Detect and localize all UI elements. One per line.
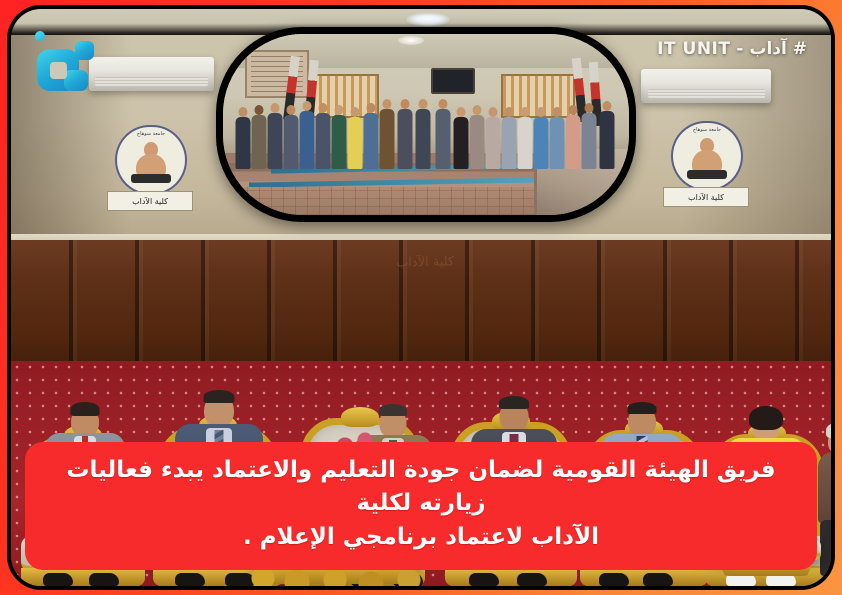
faculty-emblem-right: جامعة سوهاج كلية الآداب [663,121,747,207]
person-shoe [175,573,205,586]
person-legs [820,520,831,576]
person-head [603,101,612,111]
it-unit-logo [35,31,109,105]
person-shoe [643,573,673,586]
logo-dot [35,31,45,41]
person-body [416,109,431,169]
emblem-university-label: جامعة سوهاج [117,131,185,137]
person-head [287,105,296,115]
logo-upper-square [75,41,94,60]
inset-display-screen [431,68,475,94]
person-hair [628,402,657,414]
caption-line-2: الآداب لاعتماد برنامجي الإعلام . [47,521,795,554]
person-head [419,99,428,109]
person-body [566,115,581,169]
person-head [505,107,514,117]
person-body [518,117,533,169]
person-head [457,107,466,117]
seated-person [817,420,831,586]
person-shoe [89,573,119,586]
person-body [332,115,347,169]
person-head [255,105,264,115]
person-head [303,101,312,111]
person-body [502,117,517,169]
person-shoe [469,573,499,586]
person-head [473,105,482,115]
person-shoe [599,573,629,586]
emblem-faculty-label: كلية الآداب [107,191,193,211]
person-body [348,117,363,169]
person-body [398,109,413,169]
person-body [470,115,485,169]
air-conditioner-right [641,69,771,103]
inset-ceiling-light-icon [398,36,424,45]
person-head [521,107,530,117]
person-head [351,107,360,117]
person-body [534,117,549,169]
scribe-base-icon [131,174,171,183]
faculty-emblem-left: جامعة سوهاج كلية الآداب [107,125,191,211]
person-head [383,99,392,109]
person-body [380,109,395,169]
scribe-body-icon [136,154,166,176]
door-sign-text: كلية الآداب [396,254,454,270]
person-head [319,103,328,113]
person-body [436,109,451,169]
person-hair [826,422,831,438]
person-hair [749,406,783,430]
person-shoe [517,573,547,586]
person-body [316,113,331,169]
person-head [439,99,448,109]
caption-banner: فريق الهيئة القومية لضمان جودة التعليم و… [25,442,817,570]
person-body [600,111,615,169]
news-card: جامعة سوهاج كلية الآداب جامعة سوهاج كل [0,0,842,595]
person-head [569,105,578,115]
logo-notch [50,62,67,79]
person-head [537,107,546,117]
emblem-oval: جامعة سوهاج [671,121,743,191]
person-body [236,117,251,169]
person-head [585,103,594,113]
person-head [553,107,562,117]
main-photo: جامعة سوهاج كلية الآداب جامعة سوهاج كل [11,9,831,586]
page-handle-text: # آداب - IT UNIT [657,39,807,59]
group-photo-inset [223,34,629,215]
person-body [252,115,267,169]
person-hair [204,390,235,403]
person-body [550,117,565,169]
scribe-body-icon [692,150,722,172]
person-body [300,111,315,169]
person-hair [379,404,407,416]
person-head [335,105,344,115]
person-head [489,107,498,117]
person-shoe [43,573,73,586]
person-head [239,107,248,117]
person-body [454,117,469,169]
person-head [401,99,410,109]
scribe-base-icon [687,170,727,179]
ceiling-light-icon [406,13,450,26]
person-hair [71,402,100,416]
person-hair [499,396,529,409]
emblem-university-label: جامعة سوهاج [673,127,741,133]
person-body [364,113,379,169]
inset-photo-frame [216,27,636,222]
emblem-oval: جامعة سوهاج [115,125,187,195]
person-body [486,117,501,169]
person-body [268,113,283,169]
caption-line-1: فريق الهيئة القومية لضمان جودة التعليم و… [47,454,795,521]
person-body [284,115,299,169]
person-head [271,103,280,113]
person-head [367,103,376,113]
person-torso [818,452,831,524]
logo-arm-square [64,70,88,91]
person-body [582,113,597,169]
emblem-faculty-label: كلية الآداب [663,187,749,207]
black-photo-frame: جامعة سوهاج كلية الآداب جامعة سوهاج كل [7,5,835,590]
